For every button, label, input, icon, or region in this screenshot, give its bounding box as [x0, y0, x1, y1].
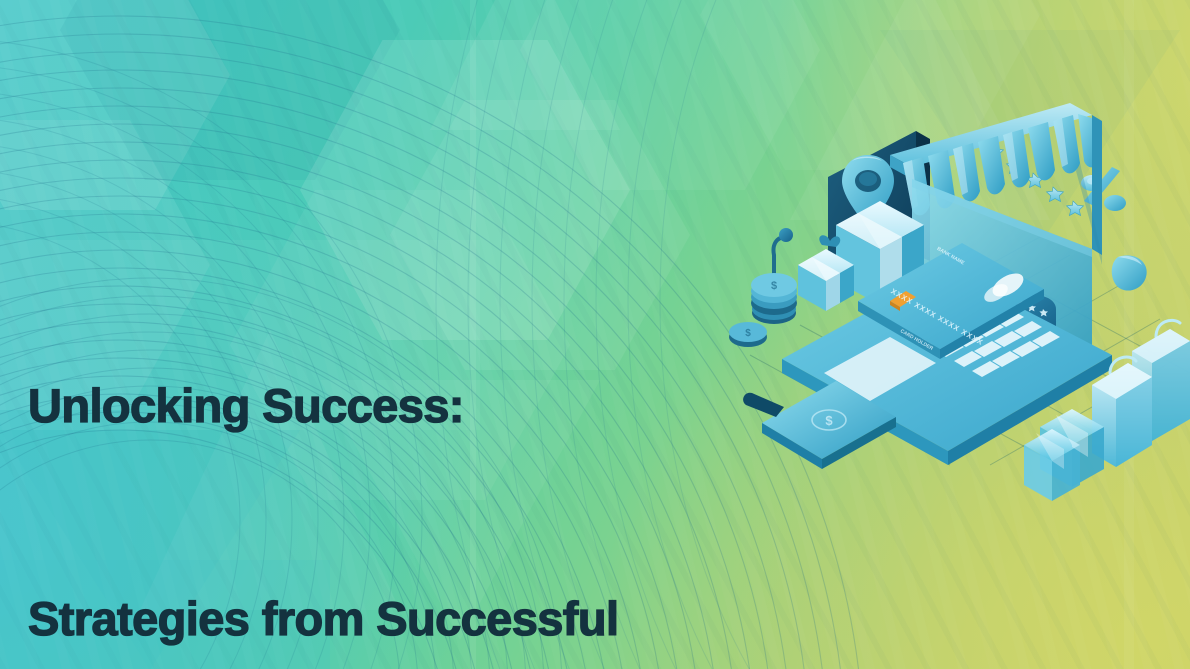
page-title: Unlocking Success: Strategies from Succe… — [28, 228, 768, 669]
gift-box-stack — [1024, 409, 1104, 501]
headline-line-2: Strategies from Successful — [28, 583, 768, 654]
svg-text:$: $ — [825, 413, 833, 428]
computer-mouse — [1112, 255, 1147, 290]
hero-banner: Unlocking Success: Strategies from Succe… — [0, 0, 1190, 669]
ecommerce-illustration: $ $ — [740, 105, 1190, 535]
headline-line-1: Unlocking Success: — [28, 370, 768, 441]
svg-text:$: $ — [771, 280, 777, 292]
